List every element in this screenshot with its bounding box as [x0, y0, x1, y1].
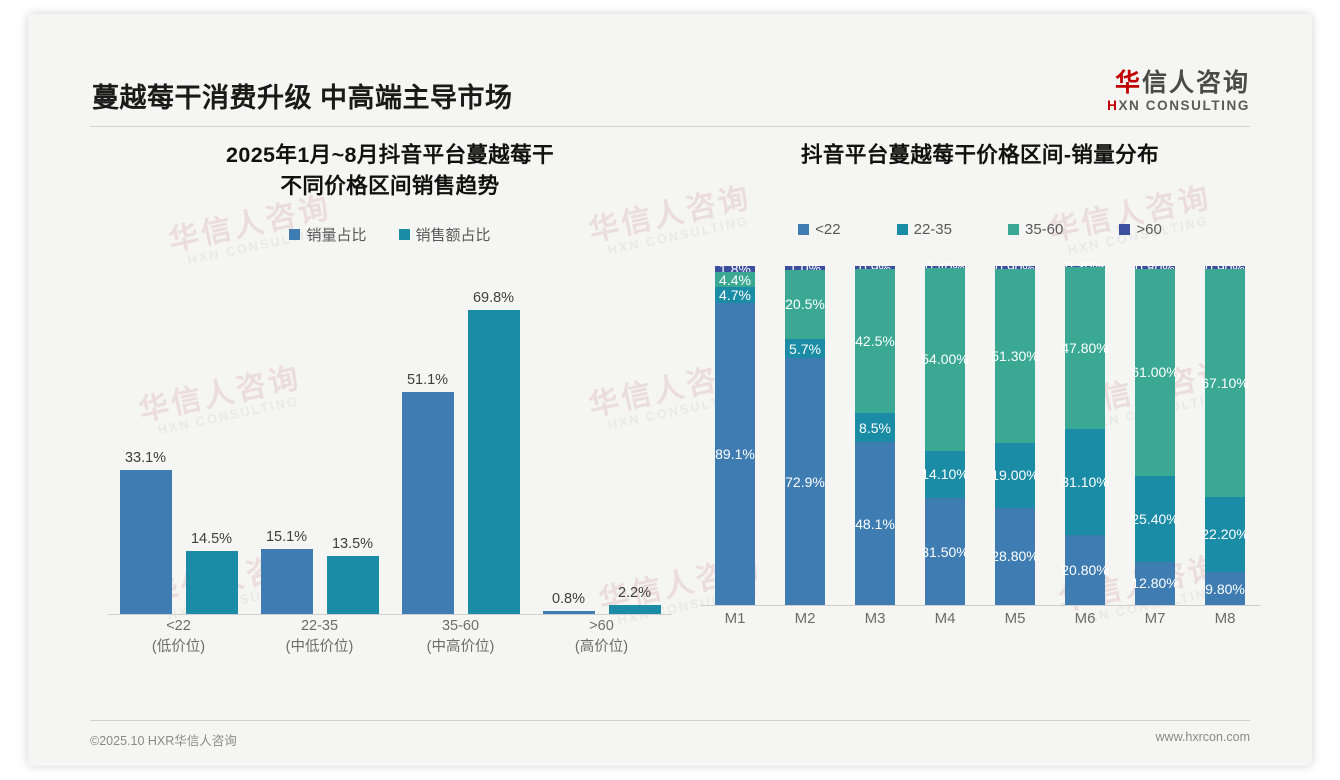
- stacked-bar[interactable]: 1.8%4.4%4.7%89.1%: [715, 266, 755, 605]
- stacked-segment-22-35[interactable]: 19.00%: [995, 443, 1035, 507]
- x-axis-tick: M8: [1190, 610, 1260, 627]
- bar-sales-volume[interactable]: 33.1%: [120, 470, 172, 614]
- bar-value-label: 0.8%: [552, 591, 585, 607]
- x-axis-tick-sub: (中高价位): [390, 637, 531, 658]
- bar-value-label: 13.5%: [332, 536, 373, 552]
- x-axis-tick: M2: [770, 610, 840, 627]
- bar-value-label: 15.1%: [266, 529, 307, 545]
- x-axis-tick: 35-60 (中高价位): [390, 616, 531, 658]
- chart-title-right: 抖音平台蔓越莓干价格区间-销量分布: [690, 140, 1270, 171]
- stacked-bar[interactable]: 0.40%54.00%14.10%31.50%: [925, 266, 965, 605]
- slide-header: 蔓越莓干消费升级 中高端主导市场 华信人咨询 HXN CONSULTING: [28, 14, 1312, 132]
- stacked-segment-35-60[interactable]: 47.80%: [1065, 267, 1105, 429]
- bar-column: 14.5%: [186, 551, 238, 614]
- stacked-bar[interactable]: 1.0%20.5%5.7%72.9%: [785, 266, 825, 605]
- x-axis-tick-sub: (中低价位): [249, 637, 390, 658]
- bar-sales-amount[interactable]: 2.2%: [609, 605, 661, 615]
- stacked-bar-group: 0.9%42.5%8.5%48.1%: [840, 266, 910, 605]
- segment-value-label: 20.5%: [785, 296, 825, 312]
- bar-column: 33.1%: [120, 470, 172, 614]
- company-logo: 华信人咨询 HXN CONSULTING: [1107, 70, 1250, 113]
- x-axis-labels-right: M1M2M3M4M5M6M7M8: [700, 610, 1260, 627]
- legend-item-35-60[interactable]: 35-60: [1008, 221, 1063, 238]
- legend-label: 销量占比: [306, 224, 366, 245]
- legend-left: 销量占比 销售额占比: [90, 224, 690, 245]
- legend-item-22-35[interactable]: 22-35: [897, 221, 952, 238]
- segment-value-label: 19.00%: [991, 467, 1038, 483]
- segment-value-label: 42.5%: [855, 333, 895, 349]
- segment-value-label: 4.7%: [719, 287, 751, 303]
- stacked-bar-group: 1.0%20.5%5.7%72.9%: [770, 266, 840, 605]
- logo-english-red: H: [1107, 98, 1118, 113]
- stacked-segment-22-35[interactable]: 5.7%: [785, 339, 825, 358]
- bar-group: 0.8% 2.2%: [531, 275, 672, 614]
- stacked-bar-group: 0.90%67.10%22.20%9.80%: [1190, 266, 1260, 605]
- segment-value-label: 25.40%: [1131, 511, 1178, 527]
- bar-group: 15.1% 13.5%: [249, 275, 390, 614]
- legend-item-lt22[interactable]: <22: [798, 221, 840, 238]
- segment-value-label: 28.80%: [991, 548, 1038, 564]
- logo-chinese-red: 华: [1115, 69, 1142, 97]
- x-axis-tick-sub: (高价位): [531, 637, 672, 658]
- segment-value-label: 72.9%: [785, 474, 825, 490]
- logo-english: HXN CONSULTING: [1107, 98, 1250, 113]
- segment-value-label: 31.10%: [1061, 474, 1108, 490]
- bar-group: 51.1% 69.8%: [390, 275, 531, 614]
- chart-panel-right: 抖音平台蔓越莓干价格区间-销量分布 <22 22-35 35-60 >60 1.…: [690, 140, 1270, 710]
- x-axis-tick: M1: [700, 610, 770, 627]
- x-axis-tick: 22-35 (中低价位): [249, 616, 390, 658]
- bar-sales-volume[interactable]: 15.1%: [261, 549, 313, 615]
- stacked-bar[interactable]: 0.90%51.30%19.00%28.80%: [995, 266, 1035, 605]
- x-axis-tick-main: 35-60: [390, 616, 531, 637]
- logo-english-rest: XN CONSULTING: [1118, 98, 1250, 113]
- stacked-bar[interactable]: 0.80%61.00%25.40%12.80%: [1135, 266, 1175, 605]
- x-axis-tick-sub: (低价位): [108, 637, 249, 658]
- segment-value-label: 4.4%: [719, 272, 751, 288]
- x-axis-line: [700, 605, 1260, 606]
- footer-divider: [90, 720, 1250, 721]
- x-axis-tick: M7: [1120, 610, 1190, 627]
- bar-sales-amount[interactable]: 14.5%: [186, 551, 238, 614]
- stacked-bar-groups: 1.8%4.4%4.7%89.1%1.0%20.5%5.7%72.9%0.9%4…: [700, 266, 1260, 605]
- segment-value-label: 14.10%: [921, 466, 968, 482]
- stacked-bar-group: 0.40%54.00%14.10%31.50%: [910, 266, 980, 605]
- stacked-segment-22-35[interactable]: 31.10%: [1065, 429, 1105, 534]
- chart-panel-left: 2025年1月~8月抖音平台蔓越莓干 不同价格区间销售趋势 销量占比 销售额占比…: [90, 140, 690, 710]
- bar-sales-amount[interactable]: 69.8%: [468, 310, 520, 614]
- legend-swatch-icon: [1008, 224, 1019, 235]
- bar-sales-amount[interactable]: 13.5%: [327, 556, 379, 615]
- legend-item-sales-volume[interactable]: 销量占比: [289, 224, 366, 245]
- x-axis-labels-left: <22 (低价位) 22-35 (中低价位) 35-60 (中高价位) >60 …: [108, 616, 672, 658]
- x-axis-tick-main: >60: [531, 616, 672, 637]
- legend-swatch-icon: [399, 229, 410, 240]
- legend-right: <22 22-35 35-60 >60: [690, 221, 1270, 238]
- stacked-segment-22-35[interactable]: 4.7%: [715, 287, 755, 303]
- segment-value-label: 31.50%: [921, 544, 968, 560]
- stacked-segment-22[interactable]: 9.80%: [1205, 572, 1245, 605]
- legend-label: 销售额占比: [416, 224, 491, 245]
- stacked-segment-22-35[interactable]: 25.40%: [1135, 476, 1175, 562]
- bar-column: 15.1%: [261, 549, 313, 615]
- stacked-bar-plot: 1.8%4.4%4.7%89.1%1.0%20.5%5.7%72.9%0.9%4…: [690, 266, 1270, 606]
- stacked-bar[interactable]: 0.30%47.80%31.10%20.80%: [1065, 266, 1105, 605]
- page-title: 蔓越莓干消费升级 中高端主导市场: [92, 76, 513, 115]
- stacked-segment-22-35[interactable]: 14.10%: [925, 451, 965, 499]
- segment-value-label: 12.80%: [1131, 575, 1178, 591]
- footer-copyright: ©2025.10 HXR华信人咨询: [90, 730, 237, 749]
- x-axis-tick: <22 (低价位): [108, 616, 249, 658]
- bar-value-label: 69.8%: [473, 290, 514, 306]
- chart-title-left: 2025年1月~8月抖音平台蔓越莓干 不同价格区间销售趋势: [90, 140, 690, 202]
- legend-swatch-icon: [289, 229, 300, 240]
- bar-column: 2.2%: [609, 605, 661, 615]
- stacked-bar-group: 0.30%47.80%31.10%20.80%: [1050, 266, 1120, 605]
- segment-value-label: 22.20%: [1201, 526, 1248, 542]
- stacked-segment-35-60[interactable]: 42.5%: [855, 269, 895, 413]
- stacked-bar-group: 0.80%61.00%25.40%12.80%: [1120, 266, 1190, 605]
- legend-label: 35-60: [1025, 221, 1063, 238]
- segment-value-label: 54.00%: [921, 351, 968, 367]
- bar-value-label: 2.2%: [618, 585, 651, 601]
- stacked-segment-35-60[interactable]: 51.30%: [995, 269, 1035, 443]
- x-axis-tick: >60 (高价位): [531, 616, 672, 658]
- footer-website: www.hxrcon.com: [1156, 730, 1250, 744]
- stacked-segment-22-35[interactable]: 22.20%: [1205, 497, 1245, 572]
- stacked-segment-35-60[interactable]: 20.5%: [785, 270, 825, 339]
- stacked-bar[interactable]: 0.90%67.10%22.20%9.80%: [1205, 266, 1245, 605]
- segment-value-label: 20.80%: [1061, 562, 1108, 578]
- legend-label: <22: [815, 221, 840, 238]
- x-axis-tick: M5: [980, 610, 1050, 627]
- bar-value-label: 51.1%: [407, 372, 448, 388]
- segment-value-label: 89.1%: [715, 446, 755, 462]
- legend-item-sales-amount[interactable]: 销售额占比: [399, 224, 491, 245]
- x-axis-tick: M6: [1050, 610, 1120, 627]
- bar-value-label: 33.1%: [125, 450, 166, 466]
- x-axis-tick-main: <22: [108, 616, 249, 637]
- slide-canvas: 华信人咨询 HXN CONSULTING 华信人咨询 HXN CONSULTIN…: [28, 14, 1312, 766]
- stacked-segment-22-35[interactable]: 8.5%: [855, 413, 895, 442]
- logo-chinese: 华信人咨询: [1107, 70, 1250, 96]
- logo-chinese-rest: 信人咨询: [1142, 69, 1250, 97]
- segment-value-label: 48.1%: [855, 516, 895, 532]
- grouped-bar-plot: 33.1% 14.5% 15.1%: [90, 275, 690, 615]
- header-divider: [90, 126, 1250, 127]
- bar-sales-volume[interactable]: 51.1%: [402, 392, 454, 615]
- chart-title-right-line1: 抖音平台蔓越莓干价格区间-销量分布: [690, 140, 1270, 171]
- segment-value-label: 5.7%: [789, 341, 821, 357]
- legend-label: 22-35: [914, 221, 952, 238]
- stacked-segment-35-60[interactable]: 67.10%: [1205, 269, 1245, 496]
- x-axis-tick: M4: [910, 610, 980, 627]
- chart-title-left-line1: 2025年1月~8月抖音平台蔓越莓干: [90, 140, 690, 171]
- stacked-segment-35-60[interactable]: 54.00%: [925, 268, 965, 451]
- stacked-bar[interactable]: 0.9%42.5%8.5%48.1%: [855, 266, 895, 605]
- stacked-bar-group: 0.90%51.30%19.00%28.80%: [980, 266, 1050, 605]
- legend-swatch-icon: [798, 224, 809, 235]
- segment-value-label: 51.30%: [991, 348, 1038, 364]
- bar-column: 51.1%: [402, 392, 454, 615]
- grouped-bar-groups: 33.1% 14.5% 15.1%: [108, 275, 672, 614]
- segment-value-label: 61.00%: [1131, 364, 1178, 380]
- bar-column: 69.8%: [468, 310, 520, 614]
- segment-value-label: 9.80%: [1205, 581, 1245, 597]
- x-axis-tick-main: 22-35: [249, 616, 390, 637]
- legend-swatch-icon: [897, 224, 908, 235]
- stacked-segment-22[interactable]: 12.80%: [1135, 562, 1175, 605]
- segment-value-label: 47.80%: [1061, 340, 1108, 356]
- stacked-segment-22[interactable]: 72.9%: [785, 358, 825, 605]
- stacked-segment-22[interactable]: 48.1%: [855, 442, 895, 605]
- stacked-segment-22[interactable]: 89.1%: [715, 303, 755, 605]
- legend-swatch-icon: [1119, 224, 1130, 235]
- legend-item-gt60[interactable]: >60: [1119, 221, 1161, 238]
- stacked-segment-35-60[interactable]: 61.00%: [1135, 269, 1175, 476]
- bar-value-label: 14.5%: [191, 531, 232, 547]
- chart-title-left-line2: 不同价格区间销售趋势: [90, 171, 690, 202]
- segment-value-label: 8.5%: [859, 420, 891, 436]
- legend-label: >60: [1136, 221, 1161, 238]
- x-axis-tick: M3: [840, 610, 910, 627]
- segment-value-label: 67.10%: [1201, 375, 1248, 391]
- stacked-segment-35-60[interactable]: 4.4%: [715, 272, 755, 287]
- bar-column: 13.5%: [327, 556, 379, 615]
- stacked-bar-group: 1.8%4.4%4.7%89.1%: [700, 266, 770, 605]
- bar-group: 33.1% 14.5%: [108, 275, 249, 614]
- x-axis-line: [108, 614, 672, 615]
- stacked-segment-22[interactable]: 20.80%: [1065, 535, 1105, 606]
- stacked-segment-22[interactable]: 31.50%: [925, 498, 965, 605]
- stacked-segment-22[interactable]: 28.80%: [995, 508, 1035, 606]
